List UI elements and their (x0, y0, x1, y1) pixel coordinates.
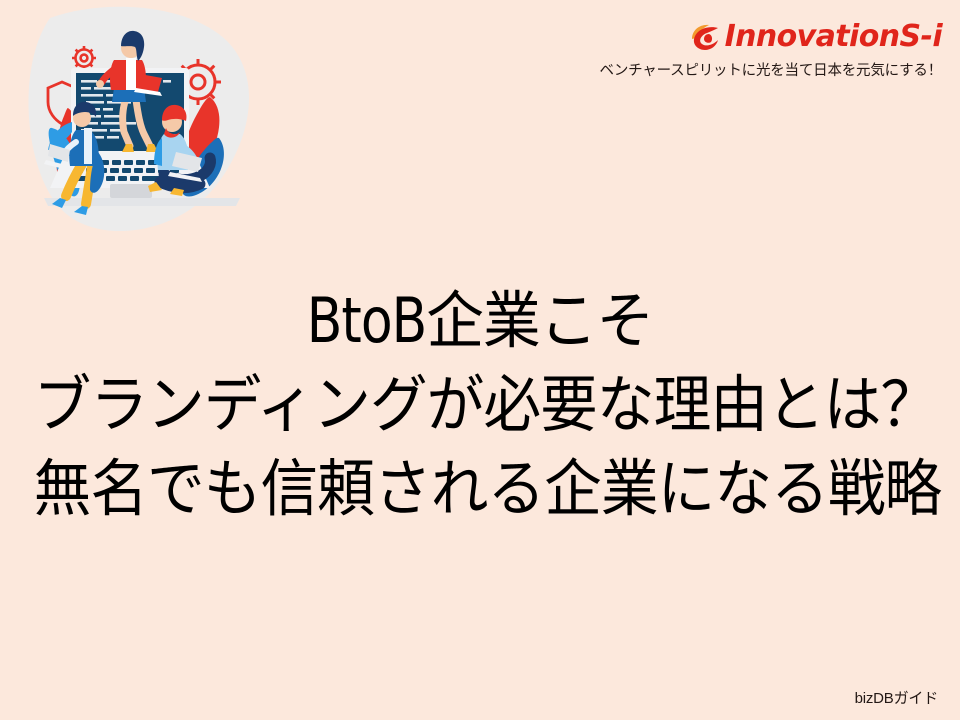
laptop-trackpad (110, 184, 152, 198)
developers-on-laptop-illustration (14, 2, 264, 252)
brand-block: InnovationS-i ベンチャースピリットに光を当て日本を元気にする！ (582, 18, 942, 80)
logo-row[interactable]: InnovationS-i (582, 18, 942, 56)
slide-canvas: InnovationS-i ベンチャースピリットに光を当て日本を元気にする！ B… (0, 0, 960, 720)
title-line-2: ブランディングが必要な理由とは？ (34, 363, 927, 447)
title-line-1: BtoB企業こそ (34, 279, 927, 363)
innovations-i-swoosh-icon (687, 22, 721, 52)
footer-label: bizDBガイド (855, 687, 938, 708)
logo-wordmark: InnovationS-i (725, 22, 942, 52)
brand-tagline: ベンチャースピリットに光を当て日本を元気にする！ (582, 63, 942, 80)
laptop-base (44, 198, 240, 206)
title-line-3: 無名でも信頼される企業になる戦略 (34, 447, 927, 531)
page-title: BtoB企業こそ ブランディングが必要な理由とは？ 無名でも信頼される企業になる… (0, 279, 960, 531)
